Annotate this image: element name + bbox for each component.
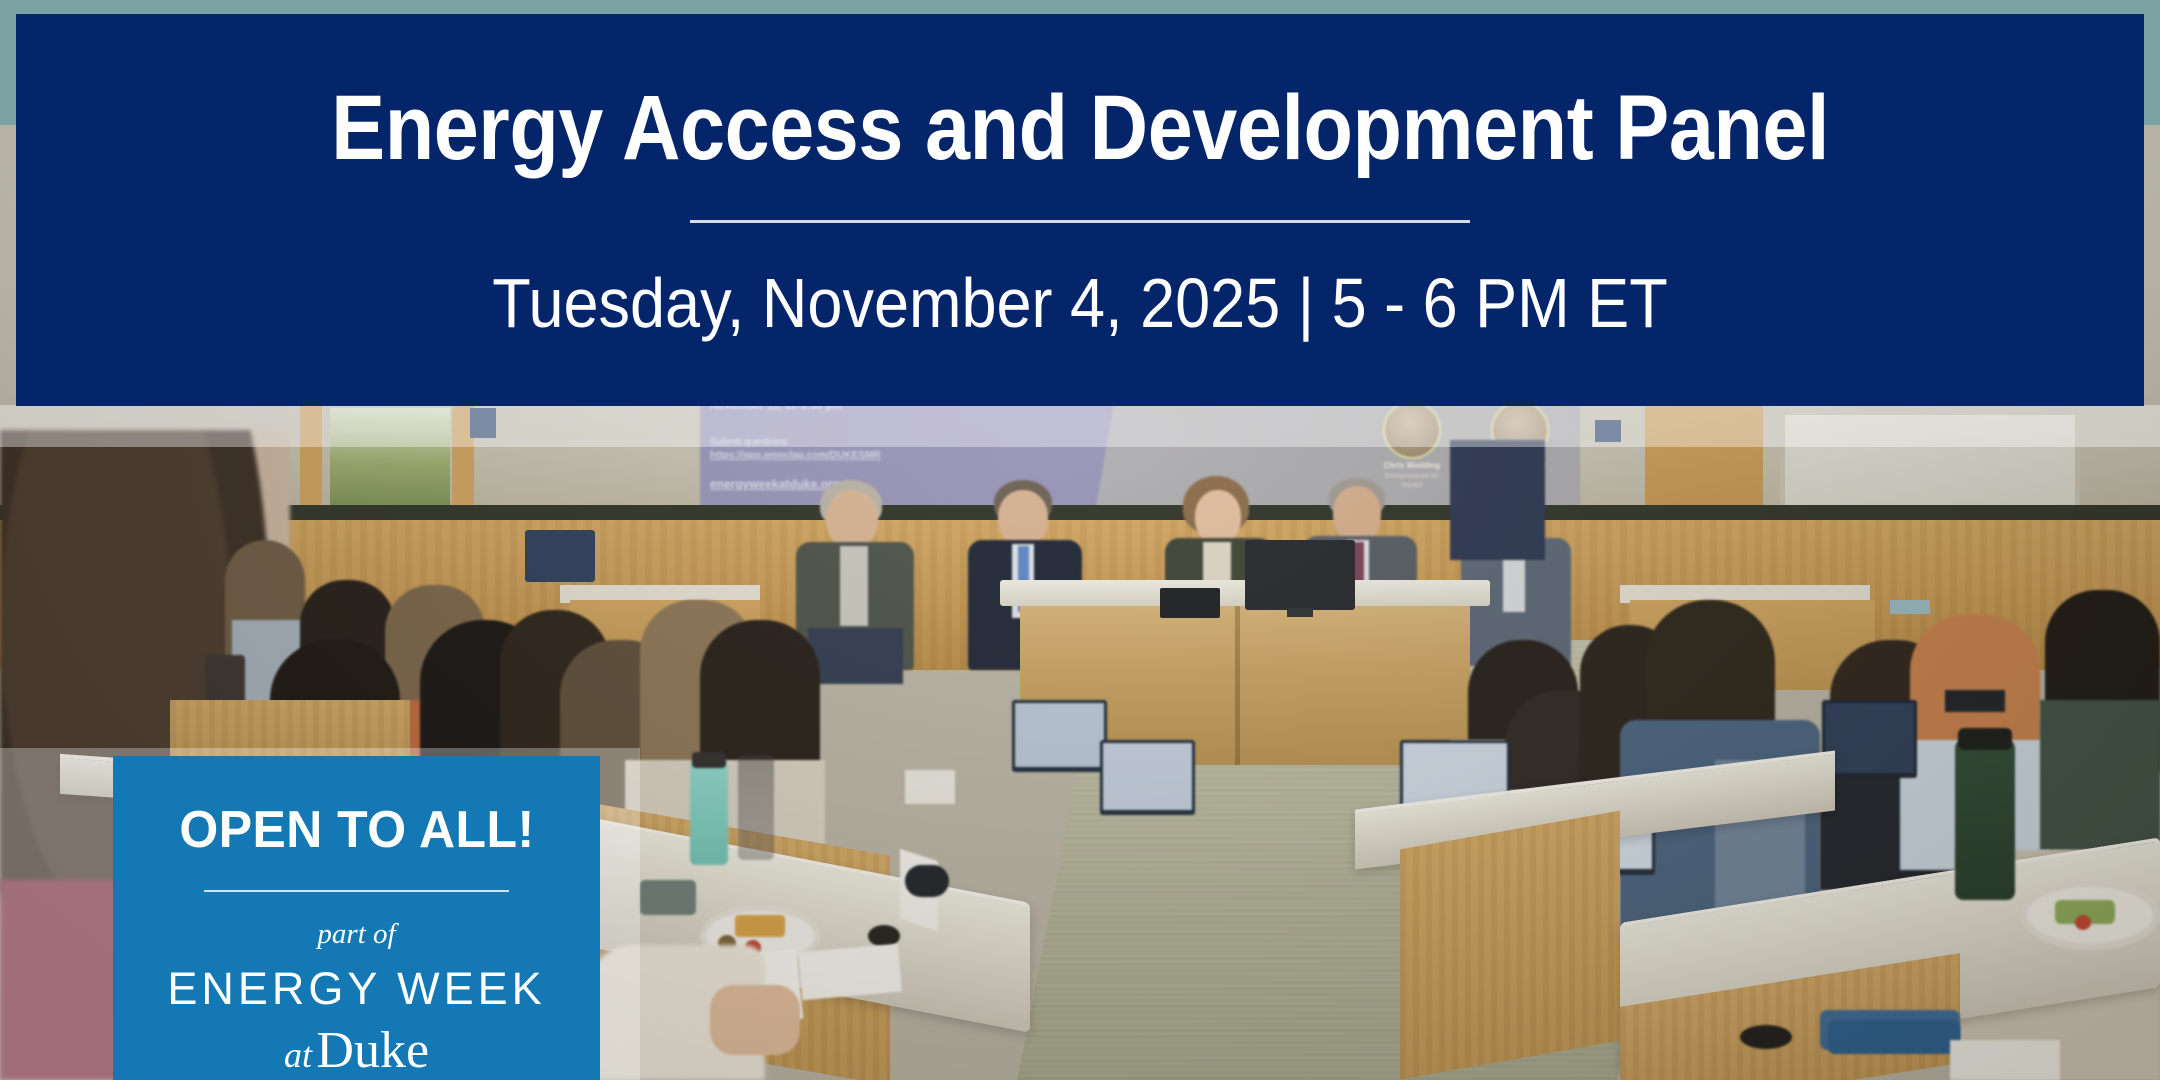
device-on-desk	[640, 880, 696, 915]
audience-body	[1450, 440, 1545, 560]
tablet-case	[1945, 690, 2005, 712]
title-card: Energy Access and Development Panel Tues…	[16, 14, 2144, 406]
panel-table-divider	[1235, 600, 1240, 765]
open-to-all-badge: OPEN TO ALL! part of ENERGY WEEK at Duke	[113, 756, 600, 1080]
bottle-cap	[1958, 728, 2012, 750]
laptop-display	[1015, 703, 1104, 767]
water-bottle-green	[1955, 740, 2015, 900]
audience-head-curly	[1645, 600, 1775, 735]
badge-divider	[204, 890, 509, 892]
overlay-band-below-title	[0, 405, 2160, 447]
badge-at-duke: at Duke	[284, 1021, 429, 1080]
water-bottle-teal	[690, 760, 728, 865]
desk-grommet	[1740, 1025, 1792, 1049]
speaker-name: Chris Wedding	[1382, 461, 1442, 472]
laptop-display	[1103, 743, 1192, 810]
badge-at-word: at	[284, 1035, 312, 1075]
event-datetime: Tuesday, November 4, 2025 | 5 - 6 PM ET	[492, 263, 1667, 343]
audience-hand	[710, 985, 800, 1055]
napkin	[798, 944, 902, 1001]
water-bottle-clear	[738, 755, 774, 860]
av-monitor-left	[525, 530, 595, 582]
table-av-box	[1160, 588, 1220, 618]
food-item	[2075, 915, 2091, 930]
food-item	[735, 915, 785, 937]
audience-body-striped	[2040, 700, 2160, 850]
laptop-display	[1825, 703, 1914, 773]
phone-case	[1828, 1020, 1960, 1054]
paper-card	[905, 770, 955, 804]
badge-headline: OPEN TO ALL!	[179, 800, 534, 860]
bottle-cap	[692, 752, 726, 768]
bottle-right-counter	[1890, 600, 1930, 614]
badge-part-of-label: part of	[317, 918, 395, 951]
page-title: Energy Access and Development Panel	[331, 81, 1829, 177]
salad-label	[1950, 1040, 2060, 1080]
badge-program-name: ENERGY WEEK	[167, 963, 545, 1015]
table-monitor	[1245, 540, 1355, 610]
phone-on-desk	[905, 865, 949, 897]
panelist-1	[790, 480, 920, 670]
title-divider	[690, 220, 1470, 223]
badge-institution: Duke	[316, 1022, 429, 1079]
desk-face	[1400, 811, 1620, 1080]
